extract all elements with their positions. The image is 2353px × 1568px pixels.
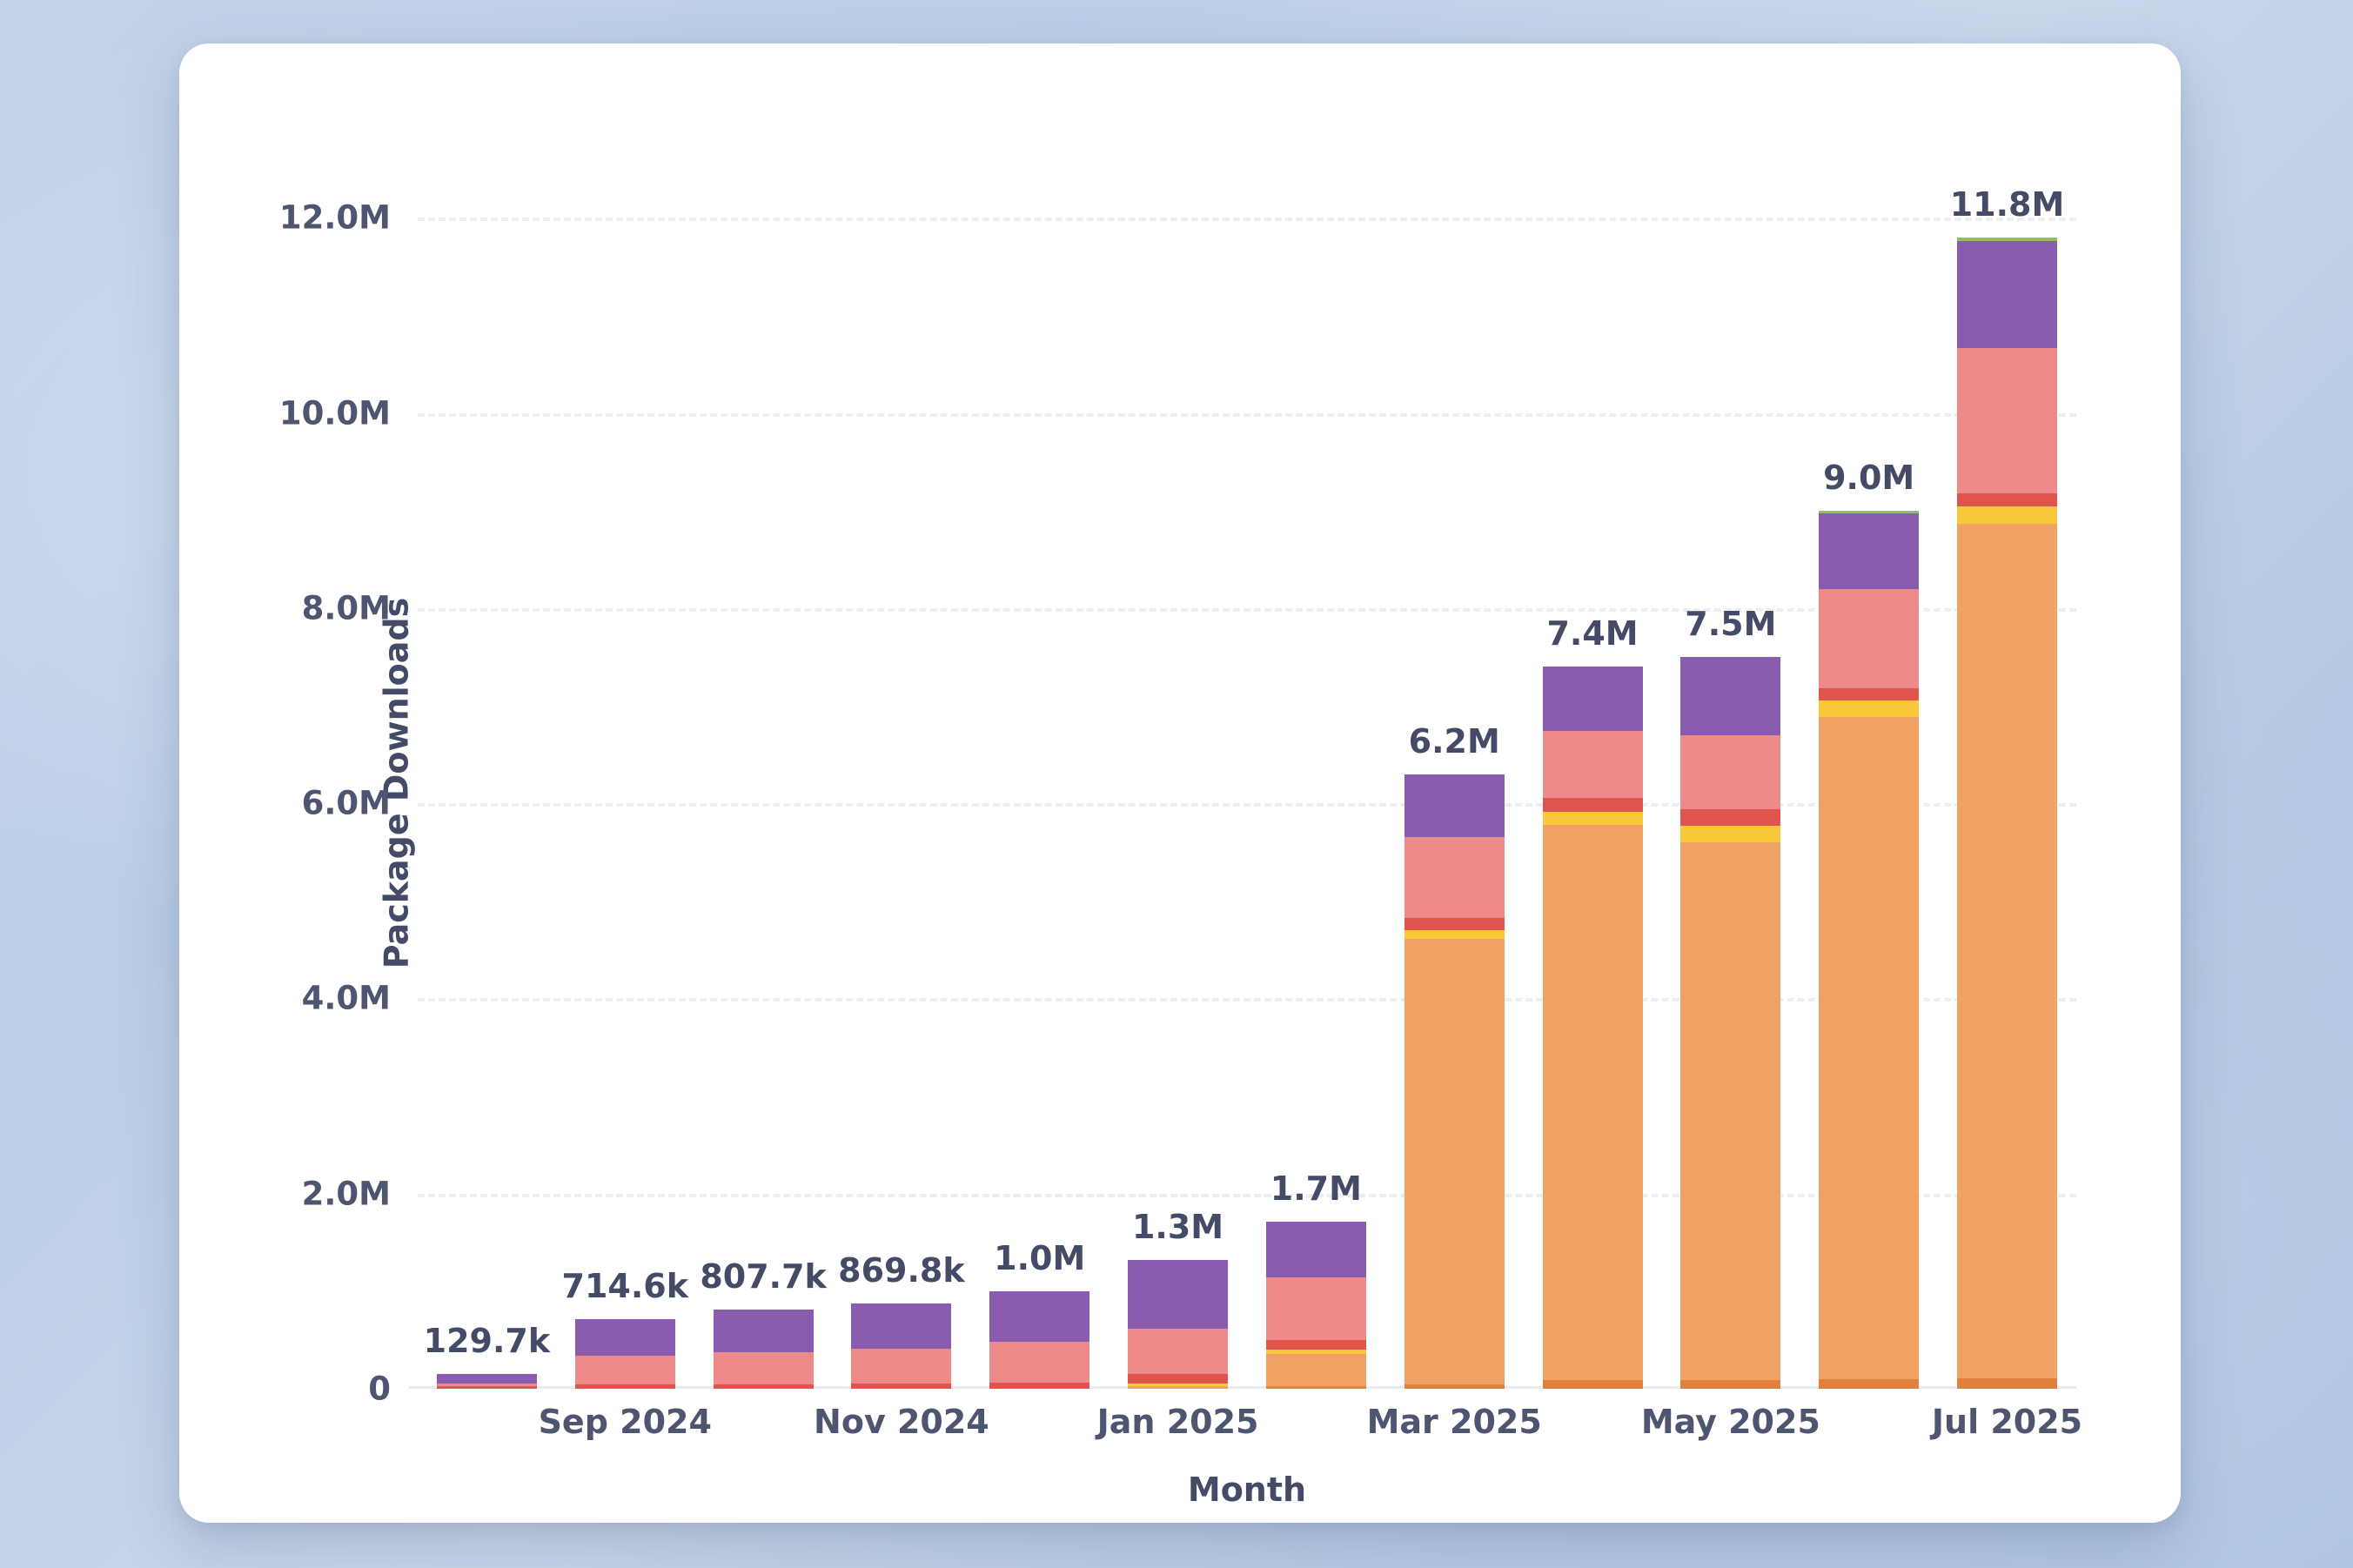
bar-segment-series-salmon[interactable]: [851, 1349, 951, 1384]
bar-segment-series-purple[interactable]: [1543, 667, 1643, 731]
screenshot-stage: Package Downloads 02.0M4.0M6.0M8.0M10.0M…: [0, 0, 2353, 1568]
bar-segment-series-purple[interactable]: [1957, 241, 2057, 348]
x-axis-tick-label: May 2025: [1641, 1403, 1820, 1441]
bar-segment-series-yellow[interactable]: [1543, 812, 1643, 825]
bar-stack[interactable]: 7.4M: [1543, 667, 1643, 1389]
bar-slot: 7.5M: [1661, 159, 1800, 1389]
bar-segment-series-salmon[interactable]: [1266, 1277, 1366, 1340]
bar-segment-series-red[interactable]: [1543, 798, 1643, 813]
bar-segment-series-yellow[interactable]: [1957, 506, 2057, 524]
bar-segment-series-yellow[interactable]: [1680, 826, 1780, 842]
bar-segment-series-purple[interactable]: [989, 1291, 1089, 1342]
bar-slot: 11.8M: [1938, 159, 2076, 1389]
bar-segment-series-orange[interactable]: [1404, 939, 1505, 1384]
y-axis-tick-label: 12.0M: [279, 199, 391, 237]
bar-segment-series-base-orange[interactable]: [1957, 1378, 2057, 1389]
bar-stack[interactable]: 7.5M: [1680, 657, 1780, 1389]
bar-slot: 1.3M: [1109, 159, 1247, 1389]
bar-segment-series-salmon[interactable]: [1957, 348, 2057, 493]
x-axis-tick-slot: Jan 2025: [1109, 1389, 1247, 1450]
bar-segment-series-salmon[interactable]: [989, 1342, 1089, 1383]
bar-segment-series-orange[interactable]: [1680, 842, 1780, 1380]
bar-total-label: 807.7k: [700, 1257, 826, 1296]
x-axis-tick-label: Jul 2025: [1932, 1403, 2082, 1441]
bar-stack[interactable]: 1.3M: [1128, 1260, 1228, 1389]
bar-segment-series-base-orange[interactable]: [1680, 1380, 1780, 1389]
bar-segment-series-red[interactable]: [1404, 918, 1505, 931]
bar-slot: 807.7k: [694, 159, 833, 1389]
x-axis-tick-label: Sep 2024: [539, 1403, 712, 1441]
bar-segment-series-salmon[interactable]: [1404, 837, 1505, 918]
bar-slot: 869.8k: [832, 159, 970, 1389]
bar-segment-series-purple[interactable]: [437, 1374, 537, 1384]
bar-stack[interactable]: 807.7k: [714, 1310, 814, 1389]
bar-stack[interactable]: 869.8k: [851, 1303, 951, 1389]
bar-segment-series-purple[interactable]: [1266, 1222, 1366, 1277]
bar-slot: 1.7M: [1247, 159, 1385, 1389]
bar-segment-series-purple[interactable]: [714, 1310, 814, 1351]
bar-segment-series-salmon[interactable]: [1819, 589, 1919, 687]
bar-total-label: 1.0M: [994, 1239, 1085, 1277]
y-axis-tick-label: 4.0M: [302, 980, 391, 1017]
bar-slot: 714.6k: [556, 159, 694, 1389]
bar-slot: 7.4M: [1524, 159, 1662, 1389]
bar-group: 129.7k714.6k807.7k869.8k1.0M1.3M1.7M6.2M…: [418, 159, 2076, 1389]
bar-segment-series-orange[interactable]: [1266, 1354, 1366, 1386]
y-axis-tick-label: 8.0M: [302, 589, 391, 627]
chart-card: Package Downloads 02.0M4.0M6.0M8.0M10.0M…: [179, 44, 2181, 1523]
bar-total-label: 1.3M: [1132, 1208, 1223, 1246]
bar-stack[interactable]: 11.8M: [1957, 238, 2057, 1389]
bar-segment-series-salmon[interactable]: [1543, 731, 1643, 797]
bar-segment-series-purple[interactable]: [1404, 774, 1505, 837]
bar-segment-series-red[interactable]: [1680, 809, 1780, 826]
bar-slot: 1.0M: [970, 159, 1109, 1389]
bar-segment-series-purple[interactable]: [1128, 1260, 1228, 1328]
x-axis-tick-slot: [694, 1389, 833, 1450]
bar-total-label: 869.8k: [838, 1251, 964, 1290]
bar-segment-series-purple[interactable]: [851, 1303, 951, 1349]
x-axis-tick-slot: [418, 1389, 556, 1450]
bar-stack[interactable]: 129.7k: [437, 1374, 537, 1389]
bar-segment-series-red[interactable]: [1819, 688, 1919, 701]
bar-segment-series-red[interactable]: [1957, 493, 2057, 506]
x-axis-tick-slot: Nov 2024: [832, 1389, 970, 1450]
bar-segment-series-orange[interactable]: [1543, 825, 1643, 1380]
x-axis-tick-slot: Sep 2024: [556, 1389, 694, 1450]
bar-segment-series-purple[interactable]: [1819, 513, 1919, 589]
x-axis-tick-slot: Mar 2025: [1385, 1389, 1524, 1450]
bar-segment-series-red[interactable]: [989, 1383, 1089, 1389]
bar-segment-series-salmon[interactable]: [1128, 1329, 1228, 1375]
bar-segment-series-salmon[interactable]: [1680, 735, 1780, 809]
bar-stack[interactable]: 1.0M: [989, 1291, 1089, 1389]
x-axis-tick-group: Sep 2024Nov 2024Jan 2025Mar 2025May 2025…: [418, 1389, 2076, 1450]
bar-stack[interactable]: 714.6k: [575, 1319, 675, 1389]
plot-area: 02.0M4.0M6.0M8.0M10.0M12.0M 129.7k714.6k…: [418, 159, 2076, 1389]
bar-segment-series-purple[interactable]: [1680, 657, 1780, 735]
bar-total-label: 9.0M: [1823, 459, 1914, 497]
x-axis-title: Month: [418, 1471, 2076, 1509]
bar-stack[interactable]: 1.7M: [1266, 1222, 1366, 1389]
bar-total-label: 129.7k: [424, 1322, 550, 1360]
bar-segment-series-red[interactable]: [1128, 1374, 1228, 1384]
bar-total-label: 6.2M: [1409, 722, 1500, 761]
y-axis-tick-label: 6.0M: [302, 785, 391, 822]
bar-total-label: 11.8M: [1950, 185, 2065, 224]
bar-slot: 6.2M: [1385, 159, 1524, 1389]
bar-segment-series-salmon[interactable]: [714, 1352, 814, 1384]
bar-total-label: 7.5M: [1685, 605, 1776, 643]
bar-stack[interactable]: 9.0M: [1819, 511, 1919, 1389]
x-axis-tick-label: Nov 2024: [814, 1403, 989, 1441]
bar-total-label: 7.4M: [1546, 614, 1638, 653]
x-axis-tick-label: Mar 2025: [1367, 1403, 1542, 1441]
x-axis-tick-slot: [1800, 1389, 1938, 1450]
bar-segment-series-base-orange[interactable]: [1543, 1380, 1643, 1389]
x-axis-tick-slot: [1247, 1389, 1385, 1450]
y-axis-tick-label: 10.0M: [279, 394, 391, 432]
bar-segment-series-red[interactable]: [1266, 1340, 1366, 1350]
y-axis-title: Package Downloads: [377, 598, 415, 969]
bar-slot: 129.7k: [418, 159, 556, 1389]
y-axis-tick-label: 0: [368, 1370, 391, 1408]
bar-total-label: 714.6k: [562, 1267, 688, 1305]
bar-segment-series-base-orange[interactable]: [1819, 1379, 1919, 1389]
bar-slot: 9.0M: [1800, 159, 1938, 1389]
x-axis-tick-slot: [970, 1389, 1109, 1450]
bar-stack[interactable]: 6.2M: [1404, 774, 1505, 1389]
bar-segment-series-purple[interactable]: [575, 1319, 675, 1356]
bar-segment-series-salmon[interactable]: [575, 1356, 675, 1385]
bar-total-label: 1.7M: [1270, 1169, 1362, 1208]
x-axis-tick-label: Jan 2025: [1097, 1403, 1259, 1441]
y-axis-tick-label: 2.0M: [302, 1175, 391, 1212]
bar-segment-series-orange[interactable]: [1957, 524, 2057, 1378]
bar-segment-series-yellow[interactable]: [1819, 700, 1919, 717]
bar-segment-series-yellow[interactable]: [1404, 930, 1505, 939]
x-axis-tick-slot: May 2025: [1661, 1389, 1800, 1450]
bar-segment-series-orange[interactable]: [1819, 717, 1919, 1379]
x-axis-tick-slot: Jul 2025: [1938, 1389, 2076, 1450]
